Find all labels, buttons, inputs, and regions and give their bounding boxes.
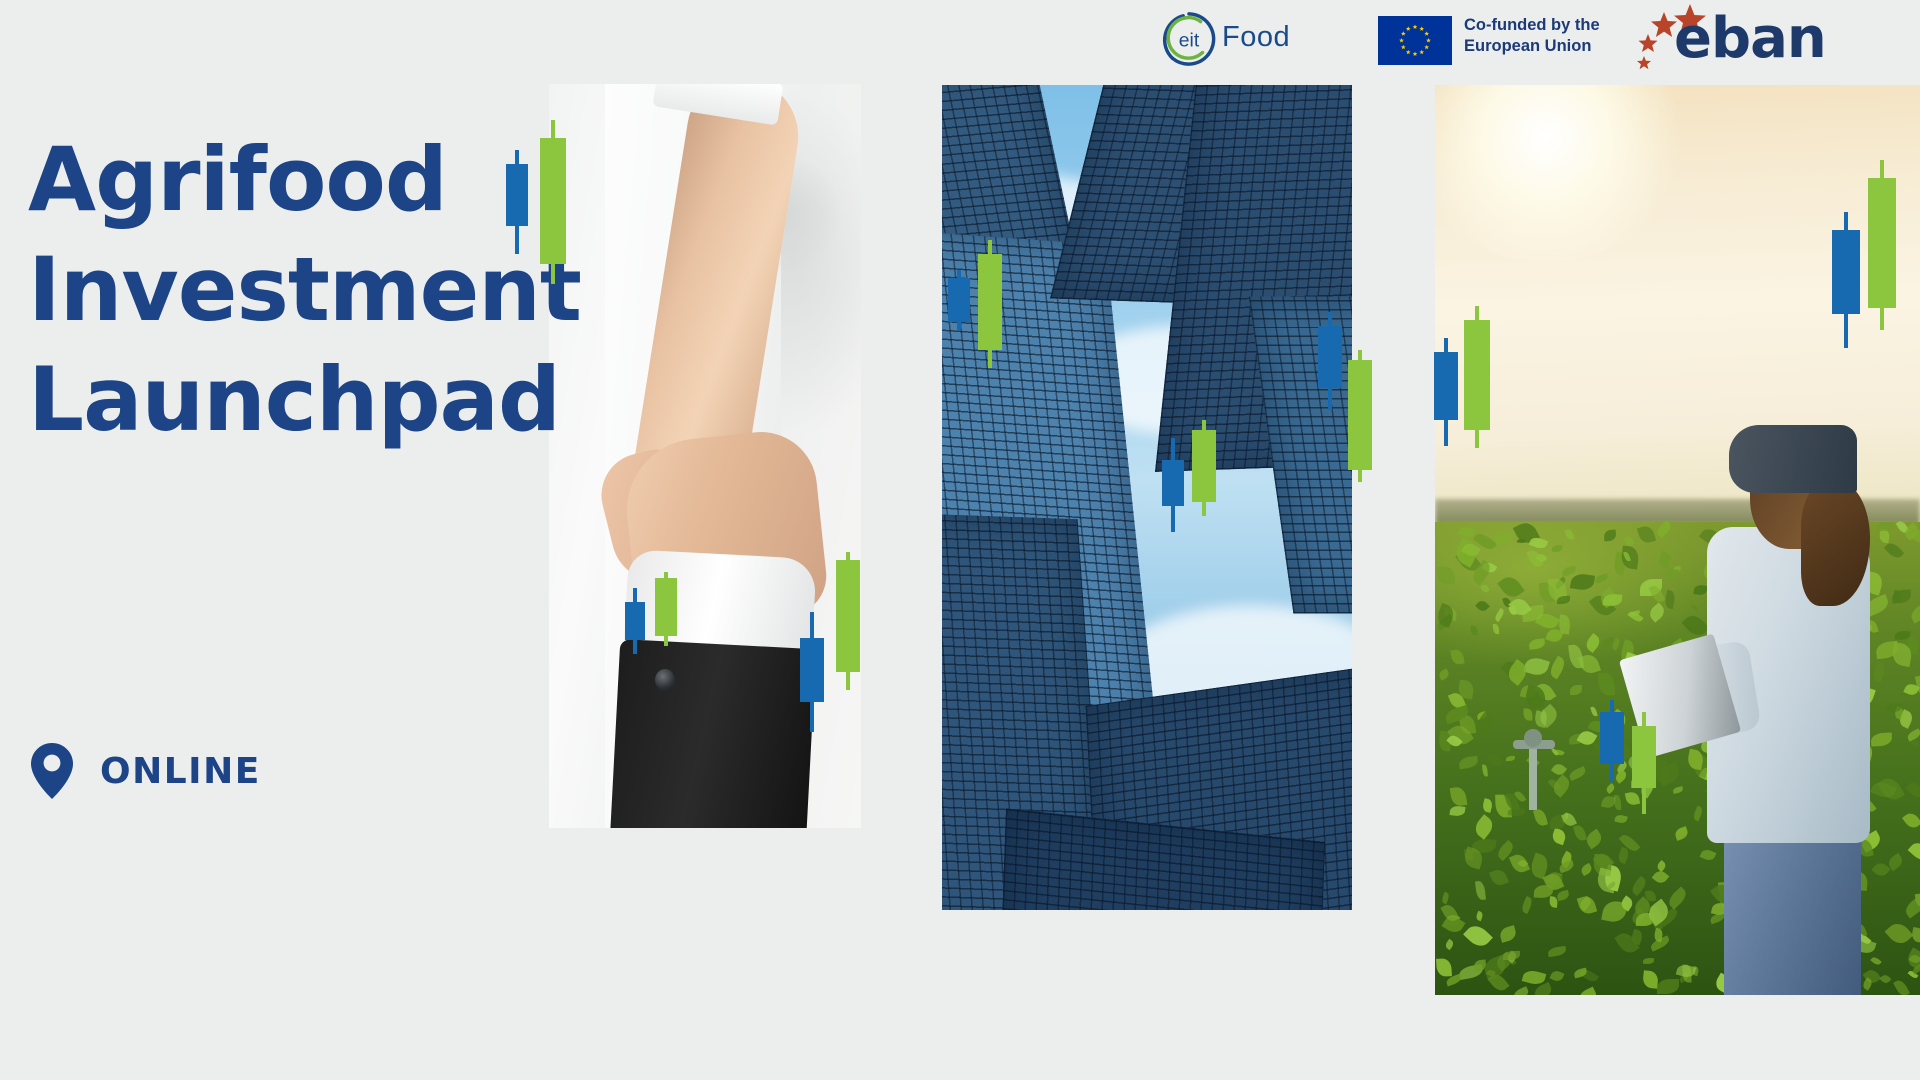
leaf (1449, 805, 1465, 817)
co-funded-eu-logo: Co-funded by the European Union (1378, 14, 1608, 66)
leaf (1568, 766, 1587, 781)
candlestick-body (948, 278, 970, 322)
leaf (1570, 685, 1582, 695)
candlestick-c10 (1348, 350, 1372, 482)
leaf (1601, 795, 1616, 810)
leaf (1565, 528, 1575, 541)
leaf (1552, 544, 1563, 552)
candlestick-body (1348, 360, 1372, 470)
candlestick-c5 (800, 612, 824, 732)
candlestick-body (625, 602, 645, 640)
candlestick-c12 (1192, 420, 1216, 516)
eban-wordmark: eban (1674, 6, 1826, 71)
leaf (1601, 899, 1628, 924)
candlestick-body (836, 560, 860, 672)
leaf (1906, 728, 1920, 741)
candlestick-c9 (1318, 312, 1342, 410)
leaf (1436, 958, 1452, 977)
leaf (1493, 624, 1500, 634)
candlestick-body (1600, 712, 1624, 764)
leaf (1471, 625, 1478, 635)
candlestick-body (1832, 230, 1860, 314)
farm-person-cap (1729, 425, 1857, 493)
leaf (1438, 669, 1451, 682)
leaf (1487, 752, 1503, 769)
leaf (1576, 986, 1600, 995)
leaf (1657, 979, 1679, 994)
leaf (1503, 951, 1520, 960)
leaf (1444, 939, 1455, 950)
leaf (1649, 583, 1666, 604)
leaf (1498, 925, 1517, 943)
leaf (1520, 896, 1534, 914)
leaf (1475, 910, 1484, 921)
candlestick-c4 (655, 572, 677, 646)
svg-text:eit: eit (1179, 31, 1200, 52)
leaf (1655, 520, 1674, 538)
leaf (1512, 986, 1531, 995)
leaf (1463, 922, 1493, 952)
candlestick-c7 (948, 270, 970, 330)
location-badge: ONLINE (30, 740, 261, 802)
leaf (1570, 572, 1595, 591)
leaf (1647, 602, 1668, 622)
poster-canvas: eit Food Co-funded by the European Union (0, 0, 1920, 1080)
leaf (1643, 957, 1654, 963)
candlestick-c16 (1868, 160, 1896, 330)
handshake-suit-sleeve (610, 639, 816, 828)
location-label: ONLINE (100, 751, 261, 792)
leaf (1892, 590, 1912, 604)
eban-logo: eban (1632, 2, 1832, 72)
leaf (1480, 584, 1490, 594)
leaf (1529, 638, 1546, 650)
candlestick-c8 (978, 240, 1002, 368)
leaf (1617, 847, 1631, 864)
leaf (1603, 530, 1616, 542)
candlestick-body (1318, 326, 1342, 388)
title-line-2: Investment (28, 235, 788, 345)
candlestick-body (1162, 460, 1184, 506)
candlestick-body (800, 638, 824, 702)
logo-bar: eit Food Co-funded by the European Union (0, 0, 1920, 78)
leaf (1550, 969, 1565, 983)
candlestick-body (540, 138, 566, 264)
leaf (1523, 655, 1550, 678)
leaf (1911, 927, 1920, 943)
candlestick-c13 (1434, 338, 1458, 446)
candlestick-body (1434, 352, 1458, 420)
leaf (1637, 525, 1656, 546)
panel-city (942, 85, 1352, 910)
leaf (1482, 764, 1488, 776)
leaf (1579, 863, 1593, 876)
candlestick-c18 (1632, 712, 1656, 814)
leaf (1450, 786, 1468, 807)
leaf (1450, 648, 1464, 665)
leaf (1471, 814, 1496, 840)
leaf (1908, 839, 1920, 864)
leaf (1902, 810, 1920, 831)
title-line-3: Launchpad (28, 345, 788, 455)
leaf (1605, 783, 1616, 794)
eu-funding-text: Co-funded by the European Union (1464, 15, 1614, 57)
candlestick-body (1464, 320, 1490, 430)
candlestick-body (506, 164, 528, 226)
page-title: Agrifood Investment Launchpad (28, 125, 788, 455)
candlestick-body (655, 578, 677, 636)
leaf (1594, 574, 1608, 584)
candlestick-c3 (625, 588, 645, 654)
leaf (1657, 551, 1672, 568)
farm-sprinkler-icon (1503, 722, 1563, 818)
leaf (1437, 566, 1455, 585)
leaf (1489, 867, 1509, 887)
candlestick-c11 (1162, 438, 1184, 532)
leaf (1590, 706, 1598, 717)
leaf (1615, 813, 1629, 824)
eu-funding-line-2: European Union (1464, 36, 1614, 57)
leaf (1482, 798, 1494, 813)
leaf (1497, 573, 1524, 601)
candlestick-c14 (1464, 306, 1490, 448)
leaf (1547, 656, 1567, 680)
leaf (1551, 828, 1568, 845)
leaf (1441, 892, 1451, 904)
leaf (1597, 672, 1614, 696)
leaf (1557, 595, 1570, 603)
eit-food-wordmark: Food (1222, 21, 1290, 54)
candlestick-body (978, 254, 1002, 350)
leaf (1523, 709, 1532, 721)
leaf (1528, 536, 1547, 551)
candlestick-body (1868, 178, 1896, 308)
leaf (1905, 780, 1920, 801)
farm-person (1678, 431, 1891, 995)
leaf (1573, 824, 1587, 842)
leaf (1472, 711, 1497, 738)
map-pin-icon (30, 743, 74, 799)
candlestick-body (1632, 726, 1656, 788)
leaf (1548, 946, 1567, 957)
eit-food-logo: eit Food (1160, 4, 1340, 70)
leaf (1556, 890, 1570, 901)
eit-circle-icon: eit (1160, 10, 1218, 68)
eu-funding-line-1: Co-funded by the (1464, 15, 1614, 36)
candlestick-c17 (1600, 700, 1624, 782)
candlestick-c15 (1832, 212, 1860, 348)
leaf (1642, 971, 1659, 989)
candlestick-c6 (836, 552, 860, 690)
leaf (1493, 608, 1505, 622)
candlestick-c1 (506, 150, 528, 254)
leaf (1577, 894, 1598, 916)
leaf (1475, 598, 1490, 613)
leaf (1583, 633, 1602, 653)
leaf (1908, 601, 1920, 623)
candlestick-body (1192, 430, 1216, 502)
candlestick-c2 (540, 120, 566, 284)
leaf (1475, 880, 1486, 900)
title-line-1: Agrifood (28, 125, 788, 235)
leaf (1893, 978, 1910, 995)
leaf (1459, 756, 1479, 770)
leaf (1602, 594, 1622, 607)
eu-flag-icon (1378, 16, 1452, 65)
